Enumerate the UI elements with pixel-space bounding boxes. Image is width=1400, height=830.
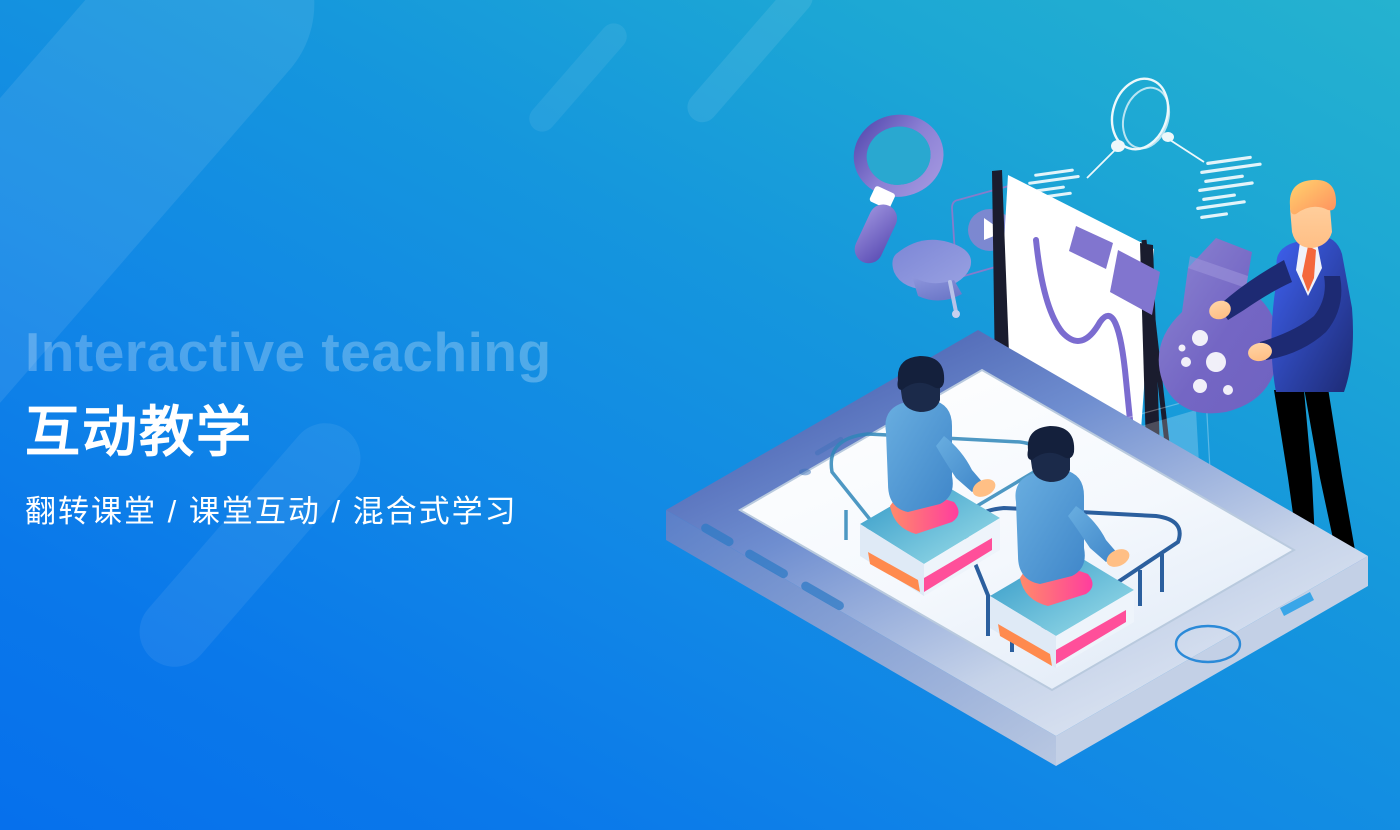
chemistry-flask — [1159, 238, 1279, 413]
node-network-diagram — [1024, 71, 1262, 219]
graduation-cap-icon — [892, 240, 971, 318]
isometric-classroom-illustration — [600, 40, 1400, 830]
interactive-teaching-banner: Interactive teaching 互动教学 翻转课堂 / 课堂互动 / … — [0, 0, 1400, 830]
tablet-device — [666, 330, 1368, 766]
